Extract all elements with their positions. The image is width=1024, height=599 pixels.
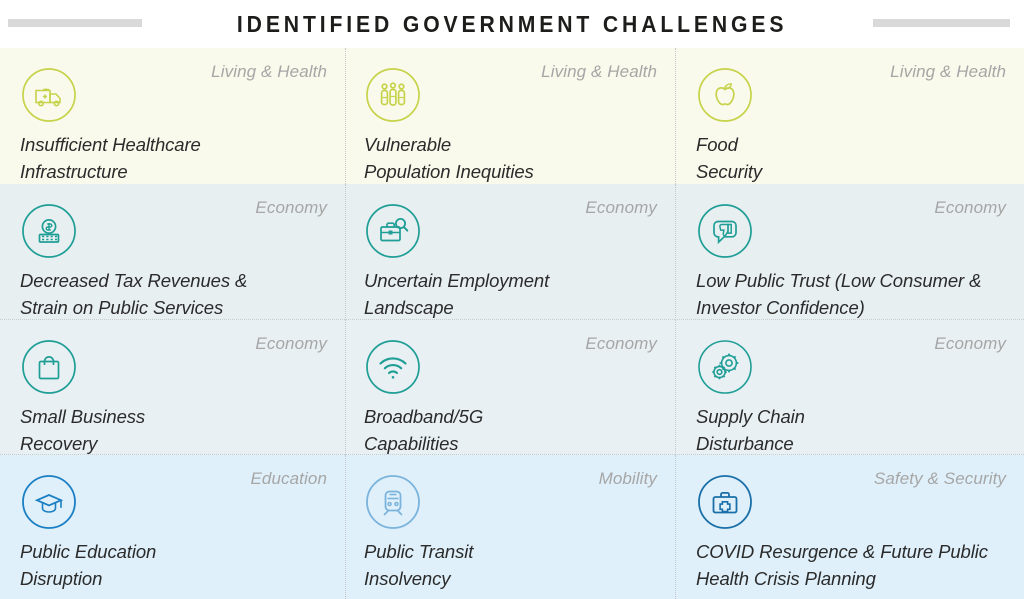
briefcase-search-icon bbox=[364, 202, 422, 260]
challenge-card[interactable]: Economy Supply Chain Disturbance bbox=[675, 320, 1024, 455]
gears-icon bbox=[696, 338, 754, 396]
category-label: Living & Health bbox=[541, 62, 657, 82]
category-label: Economy bbox=[585, 198, 657, 218]
challenge-title: Supply Chain Disturbance bbox=[696, 404, 1006, 455]
category-label: Living & Health bbox=[211, 62, 327, 82]
challenge-title: Uncertain Employment Landscape bbox=[364, 268, 657, 320]
header-rule-right bbox=[873, 19, 1010, 27]
wifi-icon bbox=[364, 338, 422, 396]
challenge-card[interactable]: Safety & Security COVID Resurgence & Fut… bbox=[675, 455, 1024, 599]
header-rule-left bbox=[8, 19, 142, 27]
challenge-card[interactable]: Economy Low Public Trust (Low Consumer &… bbox=[675, 184, 1024, 320]
challenge-title: Vulnerable Population Inequities bbox=[364, 132, 657, 184]
graduation-cap-icon bbox=[20, 473, 78, 531]
challenges-grid: Living & Health Insufficient Healthcare … bbox=[0, 48, 1024, 599]
page-header: IDENTIFIED GOVERNMENT CHALLENGES bbox=[0, 0, 1024, 48]
shopping-bag-icon bbox=[20, 338, 78, 396]
challenge-card[interactable]: Living & Health Insufficient Healthcare … bbox=[0, 48, 345, 184]
challenge-title: COVID Resurgence & Future Public Health … bbox=[696, 539, 1006, 593]
challenge-card[interactable]: Economy Decreased Tax Revenues & Strain … bbox=[0, 184, 345, 320]
challenge-title: Food Security bbox=[696, 132, 1006, 184]
challenge-title: Broadband/5G Capabilities bbox=[364, 404, 657, 455]
challenge-card[interactable]: Economy Uncertain Employment Landscape bbox=[345, 184, 675, 320]
people-group-icon bbox=[364, 66, 422, 124]
challenge-title: Small Business Recovery bbox=[20, 404, 327, 455]
category-label: Economy bbox=[255, 334, 327, 354]
challenge-title: Insufficient Healthcare Infrastructure bbox=[20, 132, 327, 184]
medical-kit-icon bbox=[696, 473, 754, 531]
category-label: Economy bbox=[585, 334, 657, 354]
money-coin-icon bbox=[20, 202, 78, 260]
category-label: Economy bbox=[255, 198, 327, 218]
challenge-title: Low Public Trust (Low Consumer & Investo… bbox=[696, 268, 1006, 320]
challenge-card[interactable]: Economy Broadband/5G Capabilities bbox=[345, 320, 675, 455]
category-label: Safety & Security bbox=[874, 469, 1006, 489]
challenge-title: Public Education Disruption bbox=[20, 539, 327, 593]
challenge-card[interactable]: Living & Health Vulnerable Population In… bbox=[345, 48, 675, 184]
category-label: Education bbox=[250, 469, 327, 489]
challenge-title: Public Transit Insolvency bbox=[364, 539, 657, 593]
train-icon bbox=[364, 473, 422, 531]
apple-icon bbox=[696, 66, 754, 124]
category-label: Economy bbox=[934, 198, 1006, 218]
challenge-card[interactable]: Economy Small Business Recovery bbox=[0, 320, 345, 455]
thumbs-down-bubble-icon bbox=[696, 202, 754, 260]
page-title: IDENTIFIED GOVERNMENT CHALLENGES bbox=[237, 11, 787, 38]
challenge-card[interactable]: Mobility Public Transit Insolvency bbox=[345, 455, 675, 599]
challenge-title: Decreased Tax Revenues & Strain on Publi… bbox=[20, 268, 327, 320]
ambulance-icon bbox=[20, 66, 78, 124]
challenge-card[interactable]: Education Public Education Disruption bbox=[0, 455, 345, 599]
challenge-card[interactable]: Living & Health Food Security bbox=[675, 48, 1024, 184]
category-label: Mobility bbox=[599, 469, 657, 489]
category-label: Economy bbox=[934, 334, 1006, 354]
category-label: Living & Health bbox=[890, 62, 1006, 82]
